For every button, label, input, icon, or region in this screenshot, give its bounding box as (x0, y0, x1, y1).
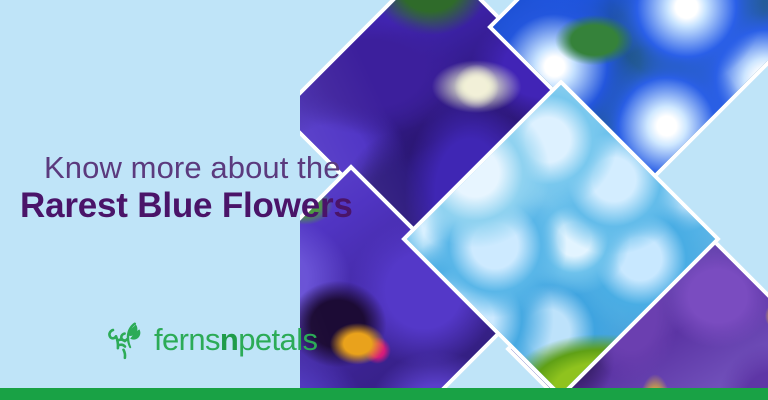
flower-collage (300, 0, 768, 400)
brand-wordmark: fernsnpetals (154, 324, 317, 355)
fern-leaf-icon (104, 316, 150, 362)
headline-line-1: Know more about the (44, 152, 340, 185)
brand-prefix: ferns (154, 322, 220, 357)
brand-middle: n (220, 322, 238, 357)
bottom-accent-bar (0, 388, 768, 400)
brand-logo[interactable]: fernsnpetals (104, 316, 317, 362)
headline-block: Know more about the Rarest Blue Flowers (20, 152, 340, 224)
page-title: Rarest Blue Flowers (20, 188, 340, 225)
blog-banner: Know more about the Rarest Blue Flowers (0, 0, 768, 400)
brand-suffix: petals (238, 322, 317, 357)
